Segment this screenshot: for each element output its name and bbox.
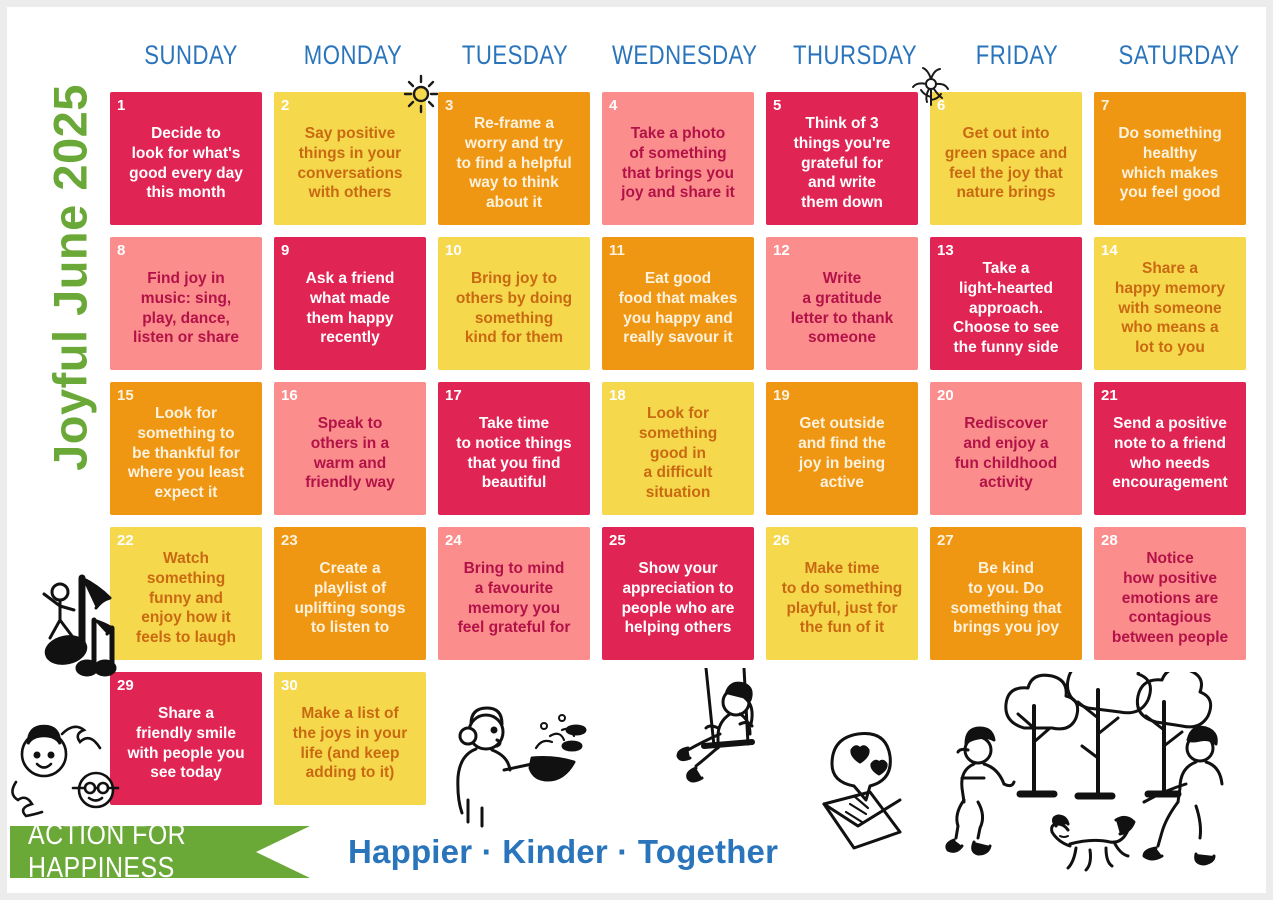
day-number: 12 bbox=[773, 243, 911, 258]
day-action-text: Get out into green space and feel the jo… bbox=[937, 114, 1075, 218]
day-action-text: Make a list of the joys in your life (an… bbox=[281, 694, 419, 798]
day-number: 7 bbox=[1101, 98, 1239, 113]
day-number: 23 bbox=[281, 533, 419, 548]
weekday-header-monday: MONDAY bbox=[287, 40, 420, 71]
weekday-header-tuesday: TUESDAY bbox=[449, 40, 582, 71]
day-action-text: Make time to do something playful, just … bbox=[773, 549, 911, 653]
day-number: 9 bbox=[281, 243, 419, 258]
calendar-day-cell[interactable]: 11Eat good food that makes you happy and… bbox=[602, 237, 754, 370]
calendar-empty-cell bbox=[602, 672, 754, 805]
calendar-day-cell[interactable]: 7Do something healthy which makes you fe… bbox=[1094, 92, 1246, 225]
calendar-day-cell[interactable]: 15Look for something to be thankful for … bbox=[110, 382, 262, 515]
day-action-text: Look for something to be thankful for wh… bbox=[117, 404, 255, 508]
day-number: 27 bbox=[937, 533, 1075, 548]
calendar-day-cell[interactable]: 28Notice how positive emotions are conta… bbox=[1094, 527, 1246, 660]
music-note-dancer-icon bbox=[8, 570, 126, 695]
day-action-text: Send a positive note to a friend who nee… bbox=[1101, 404, 1239, 508]
day-number: 2 bbox=[281, 98, 419, 113]
brand-banner: ACTION FOR HAPPINESS bbox=[10, 826, 310, 878]
day-number: 5 bbox=[773, 98, 911, 113]
brand-label: ACTION FOR HAPPINESS bbox=[28, 819, 271, 885]
weekday-header-wednesday: WEDNESDAY bbox=[612, 40, 757, 71]
day-number: 8 bbox=[117, 243, 255, 258]
day-action-text: Eat good food that makes you happy and r… bbox=[609, 259, 747, 363]
calendar-day-cell[interactable]: 26Make time to do something playful, jus… bbox=[766, 527, 918, 660]
day-action-text: Show your appreciation to people who are… bbox=[609, 549, 747, 653]
day-action-text: Say positive things in your conversation… bbox=[281, 114, 419, 218]
day-number: 10 bbox=[445, 243, 583, 258]
calendar-day-cell[interactable]: 12Write a gratitude letter to thank some… bbox=[766, 237, 918, 370]
calendar-day-cell[interactable]: 25Show your appreciation to people who a… bbox=[602, 527, 754, 660]
calendar-day-cell[interactable]: 9Ask a friend what made them happy recen… bbox=[274, 237, 426, 370]
day-action-text: Bring to mind a favourite memory you fee… bbox=[445, 549, 583, 653]
weekday-header-friday: FRIDAY bbox=[950, 40, 1083, 71]
day-number: 14 bbox=[1101, 243, 1239, 258]
calendar-day-cell[interactable]: 17Take time to notice things that you fi… bbox=[438, 382, 590, 515]
day-number: 29 bbox=[117, 678, 255, 693]
calendar-empty-cell bbox=[1094, 672, 1246, 805]
calendar-day-cell[interactable]: 1Decide to look for what's good every da… bbox=[110, 92, 262, 225]
calendar-day-cell[interactable]: 20Rediscover and enjoy a fun childhood a… bbox=[930, 382, 1082, 515]
day-number: 21 bbox=[1101, 388, 1239, 403]
day-action-text: Take time to notice things that you find… bbox=[445, 404, 583, 508]
weekday-header-saturday: SATURDAY bbox=[1112, 40, 1245, 71]
day-action-text: Watch something funny and enjoy how it f… bbox=[117, 549, 255, 653]
calendar-day-cell[interactable]: 4Take a photo of something that brings y… bbox=[602, 92, 754, 225]
calendar-day-cell[interactable]: 5Think of 3 things you're grateful for a… bbox=[766, 92, 918, 225]
calendar-day-cell[interactable]: 22Watch something funny and enjoy how it… bbox=[110, 527, 262, 660]
calendar-day-cell[interactable]: 14Share a happy memory with someone who … bbox=[1094, 237, 1246, 370]
day-number: 26 bbox=[773, 533, 911, 548]
calendar-day-cell[interactable]: 23Create a playlist of uplifting songs t… bbox=[274, 527, 426, 660]
day-action-text: Be kind to you. Do something that brings… bbox=[937, 549, 1075, 653]
day-number: 6 bbox=[937, 98, 1075, 113]
day-number: 18 bbox=[609, 388, 747, 403]
day-action-text: Ask a friend what made them happy recent… bbox=[281, 259, 419, 363]
day-number: 30 bbox=[281, 678, 419, 693]
day-number: 1 bbox=[117, 98, 255, 113]
calendar-day-cell[interactable]: 6Get out into green space and feel the j… bbox=[930, 92, 1082, 225]
day-action-text: Re-frame a worry and try to find a helpf… bbox=[445, 114, 583, 218]
day-number: 28 bbox=[1101, 533, 1239, 548]
day-number: 17 bbox=[445, 388, 583, 403]
calendar-day-cell[interactable]: 24Bring to mind a favourite memory you f… bbox=[438, 527, 590, 660]
day-action-text: Take a light-hearted approach. Choose to… bbox=[937, 259, 1075, 363]
day-action-text: Notice how positive emotions are contagi… bbox=[1101, 549, 1239, 653]
calendar-day-cell[interactable]: 27Be kind to you. Do something that brin… bbox=[930, 527, 1082, 660]
day-number: 3 bbox=[445, 98, 583, 113]
day-number: 13 bbox=[937, 243, 1075, 258]
weekday-header-sunday: SUNDAY bbox=[125, 40, 258, 71]
day-action-text: Speak to others in a warm and friendly w… bbox=[281, 404, 419, 508]
weekday-header-thursday: THURSDAY bbox=[788, 40, 921, 71]
day-action-text: Bring joy to others by doing something k… bbox=[445, 259, 583, 363]
calendar-day-cell[interactable]: 21Send a positive note to a friend who n… bbox=[1094, 382, 1246, 515]
calendar-day-cell[interactable]: 19Get outside and find the joy in being … bbox=[766, 382, 918, 515]
calendar-day-cell[interactable]: 18Look for something good in a difficult… bbox=[602, 382, 754, 515]
calendar-day-cell[interactable]: 3Re-frame a worry and try to find a help… bbox=[438, 92, 590, 225]
day-action-text: Get outside and find the joy in being ac… bbox=[773, 404, 911, 508]
day-action-text: Share a happy memory with someone who me… bbox=[1101, 259, 1239, 363]
day-action-text: Look for something good in a difficult s… bbox=[609, 404, 747, 508]
day-action-text: Do something healthy which makes you fee… bbox=[1101, 114, 1239, 218]
day-action-text: Create a playlist of uplifting songs to … bbox=[281, 549, 419, 653]
calendar-day-cell[interactable]: 8Find joy in music: sing, play, dance, l… bbox=[110, 237, 262, 370]
calendar-empty-cell bbox=[766, 672, 918, 805]
day-action-text: Decide to look for what's good every day… bbox=[117, 114, 255, 218]
tagline: Happier · Kinder · Together bbox=[348, 826, 778, 878]
day-number: 4 bbox=[609, 98, 747, 113]
day-number: 15 bbox=[117, 388, 255, 403]
weekday-header-row: SUNDAYMONDAYTUESDAYWEDNESDAYTHURSDAYFRID… bbox=[110, 40, 1260, 71]
page-title: Joyful June 2025 bbox=[43, 68, 98, 488]
day-action-text: Take a photo of something that brings yo… bbox=[609, 114, 747, 218]
calendar-grid: 1Decide to look for what's good every da… bbox=[110, 92, 1260, 805]
day-action-text: Rediscover and enjoy a fun childhood act… bbox=[937, 404, 1075, 508]
calendar-day-cell[interactable]: 2Say positive things in your conversatio… bbox=[274, 92, 426, 225]
day-action-text: Share a friendly smile with people you s… bbox=[117, 694, 255, 798]
calendar-empty-cell bbox=[438, 672, 590, 805]
calendar-day-cell[interactable]: 10Bring joy to others by doing something… bbox=[438, 237, 590, 370]
footer: ACTION FOR HAPPINESS Happier · Kinder · … bbox=[10, 826, 1263, 878]
day-number: 25 bbox=[609, 533, 747, 548]
day-number: 11 bbox=[609, 243, 747, 258]
day-action-text: Find joy in music: sing, play, dance, li… bbox=[117, 259, 255, 363]
day-number: 22 bbox=[117, 533, 255, 548]
smiling-faces-icon bbox=[4, 710, 124, 823]
day-number: 16 bbox=[281, 388, 419, 403]
joyful-june-calendar-page: Joyful June 2025 SUNDAYMONDAYTUESDAYWEDN… bbox=[0, 0, 1273, 900]
calendar-empty-cell bbox=[930, 672, 1082, 805]
calendar-day-cell[interactable]: 29Share a friendly smile with people you… bbox=[110, 672, 262, 805]
day-number: 19 bbox=[773, 388, 911, 403]
calendar-day-cell[interactable]: 16Speak to others in a warm and friendly… bbox=[274, 382, 426, 515]
day-action-text: Think of 3 things you're grateful for an… bbox=[773, 114, 911, 218]
day-number: 24 bbox=[445, 533, 583, 548]
day-action-text: Write a gratitude letter to thank someon… bbox=[773, 259, 911, 363]
calendar-day-cell[interactable]: 30Make a list of the joys in your life (… bbox=[274, 672, 426, 805]
calendar-day-cell[interactable]: 13Take a light-hearted approach. Choose … bbox=[930, 237, 1082, 370]
day-number: 20 bbox=[937, 388, 1075, 403]
